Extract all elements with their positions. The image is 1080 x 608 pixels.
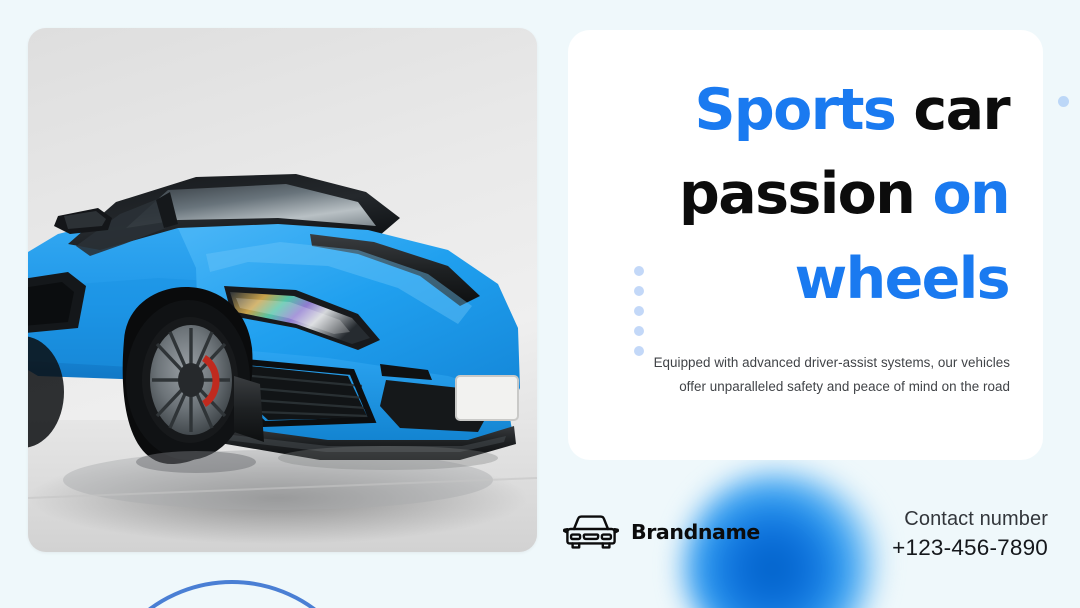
- headline-line-2: passion on: [598, 152, 1009, 236]
- contact-number[interactable]: +123-456-7890: [892, 533, 1048, 563]
- headline-word-on: on: [932, 161, 1009, 227]
- headline-word-sports: Sports: [694, 77, 895, 143]
- contact-label: Contact number: [892, 506, 1048, 533]
- dot-icon-1: [634, 266, 644, 276]
- dot-icon-4: [634, 326, 644, 336]
- headline-word-car: car: [895, 77, 1009, 143]
- headline-word-passion: passion: [679, 161, 932, 227]
- dot-icon-2: [634, 286, 644, 296]
- dot-icon-3: [634, 306, 644, 316]
- headline-line-3: wheels: [598, 237, 1009, 321]
- car-front-icon: [563, 512, 619, 552]
- page-title: Sports car passion on wheels: [598, 68, 1013, 321]
- headline-word-wheels: wheels: [795, 246, 1009, 312]
- headline-line-1: Sports car: [598, 68, 1009, 152]
- headline-card: Sports car passion on wheels Equipped wi…: [568, 30, 1043, 460]
- body-description: Equipped with advanced driver-assist sys…: [598, 351, 1013, 398]
- brand-lockup[interactable]: Brandname: [563, 512, 760, 552]
- contact-block: Contact number +123-456-7890: [892, 506, 1048, 563]
- brand-name-label: Brandname: [631, 520, 760, 544]
- hero-car-image: [28, 28, 537, 552]
- dot-icon-5: [634, 346, 644, 356]
- decorative-dot-column: [634, 266, 644, 356]
- accent-dot-icon: [1058, 96, 1069, 107]
